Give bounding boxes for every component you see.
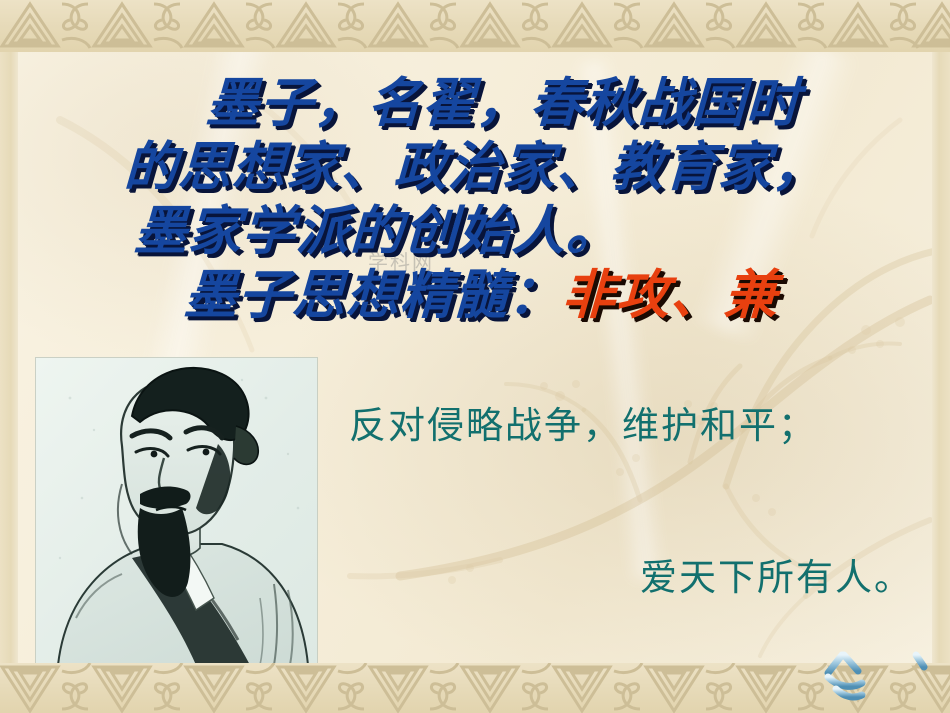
title-line-4: 墨子思想精髓：非攻、兼: [0, 264, 950, 328]
portrait-image: [36, 358, 317, 665]
body-line-2: 爱天下所有人。: [640, 556, 913, 600]
title-line-1: 墨子，名翟，春秋战国时: [0, 72, 950, 136]
slide-canvas: 学科网 墨子，名翟，春秋战国时 的思想家、政治家、教育家， 墨家学派的创始人。 …: [0, 0, 950, 713]
calligraphy-logo: [812, 641, 944, 711]
title-line-4-red-text: 非攻、兼: [561, 265, 779, 326]
title-block: 墨子，名翟，春秋战国时 的思想家、政治家、教育家， 墨家学派的创始人。 墨子思想…: [0, 72, 950, 328]
title-line-2: 的思想家、政治家、教育家，: [0, 136, 950, 200]
bottom-border-ornament: [0, 663, 950, 713]
title-line-4-blue-text: 墨子思想精髓：: [183, 265, 563, 326]
top-border-ornament: [0, 0, 950, 52]
left-border-strip: [0, 52, 18, 663]
right-border-strip: [932, 52, 950, 663]
body-line-1: 反对侵略战争，维护和平；: [349, 404, 817, 448]
title-line-3: 墨家学派的创始人。: [0, 200, 950, 264]
